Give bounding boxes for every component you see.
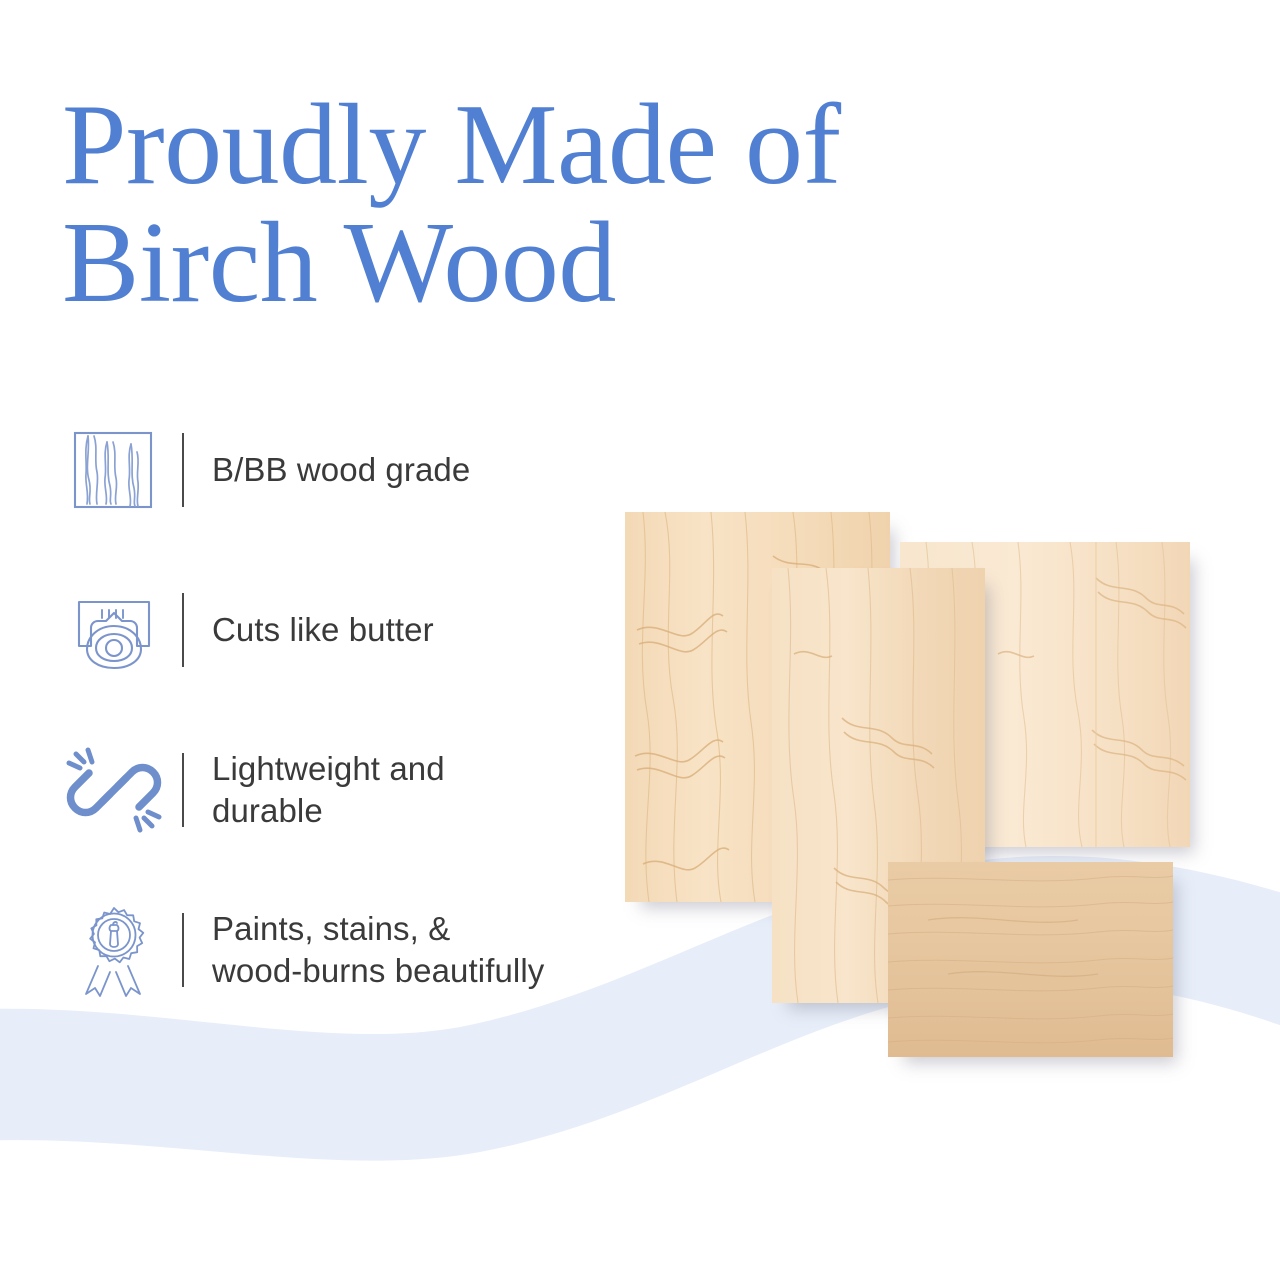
page-title: Proudly Made of Birch Wood xyxy=(62,86,922,323)
award-rosette-ribbon-icon xyxy=(62,898,166,1002)
feature-row-finishes: Paints, stains, & wood-burns beautifully xyxy=(62,870,682,1030)
feature-row-wood-grade: B/BB wood grade xyxy=(62,390,682,550)
feature-row-lightweight-durable: Lightweight and durable xyxy=(62,710,682,870)
poster-canvas: Proudly Made of Birch Wood xyxy=(0,0,1280,1280)
wood-grain-square-icon xyxy=(62,418,166,522)
cutting-machine-butter-icon xyxy=(62,578,166,682)
chain-link-strength-icon xyxy=(62,738,166,842)
feature-row-cuts-like-butter: Cuts like butter xyxy=(62,550,682,710)
feature-label: Paints, stains, & wood-burns beautifully xyxy=(212,908,544,992)
feature-divider xyxy=(182,753,184,827)
wood-panel-front-lower[interactable] xyxy=(888,862,1173,1057)
feature-divider xyxy=(182,913,184,987)
feature-list: B/BB wood grade xyxy=(62,390,682,1030)
feature-divider xyxy=(182,593,184,667)
wood-grain-texture xyxy=(888,862,1173,1057)
feature-label: Cuts like butter xyxy=(212,609,434,651)
feature-label: B/BB wood grade xyxy=(212,449,470,491)
feature-divider xyxy=(182,433,184,507)
feature-label: Lightweight and durable xyxy=(212,748,445,832)
